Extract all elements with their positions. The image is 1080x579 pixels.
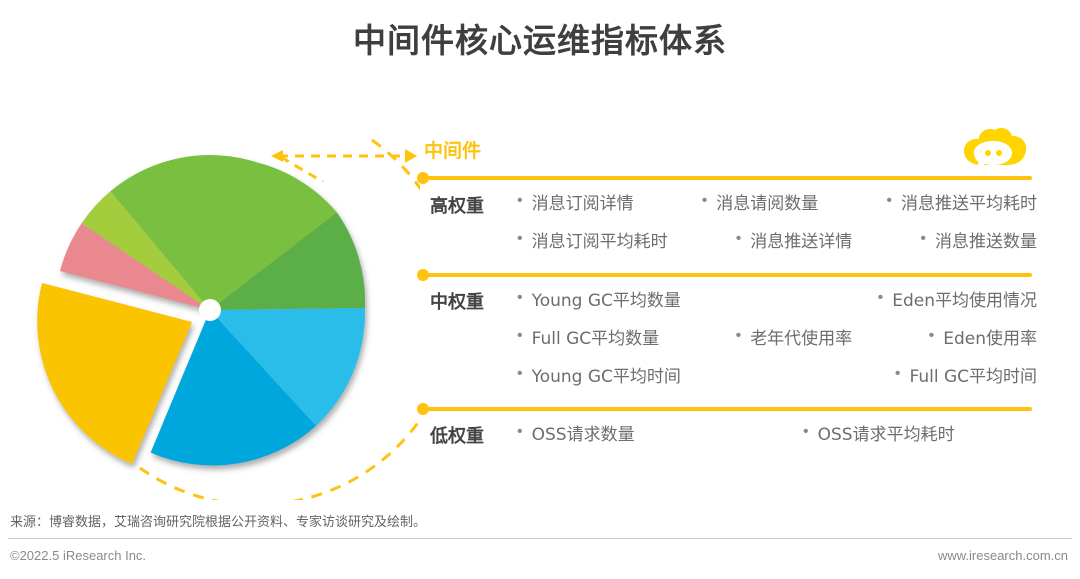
website-text: www.iresearch.com.cn [938,548,1068,563]
slide-root: 中间件核心运维指标体系 [0,0,1080,579]
metric-item: •消息订阅平均耗时 [517,227,668,252]
cloud-chat-icon [957,127,1032,179]
metric-text: 老年代使用率 [750,324,852,349]
metrics-group-low: •OSS请求数量 •OSS请求平均耗时 [517,413,1037,451]
metric-text: Eden使用率 [943,324,1037,349]
pie-hub [199,299,221,321]
divider-dot [417,269,429,281]
bullet-icon: • [886,193,892,209]
bullet-icon: • [736,231,742,247]
weight-label-low: 低权重 [430,422,484,448]
bullet-icon: • [895,366,901,382]
page-title: 中间件核心运维指标体系 [0,14,1080,62]
divider-dot [417,172,429,184]
metric-item: •消息推送平均耗时 [886,189,1037,214]
callout-arrow-icon [267,142,417,182]
bullet-icon: • [517,424,523,440]
weight-label-medium: 中权重 [430,288,484,314]
metric-line: •消息订阅详情 •消息请阅数量 •消息推送平均耗时 [517,182,1037,220]
metric-text: 消息请阅数量 [716,189,818,214]
metric-text: 消息推送平均耗时 [901,189,1037,214]
metric-text: Young GC平均时间 [532,362,681,387]
bullet-icon: • [878,290,884,306]
metric-item: •Full GC平均时间 [895,362,1037,387]
metric-text: OSS请求平均耗时 [818,420,955,445]
bullet-icon: • [702,193,708,209]
pie-chart: 中间件 [20,130,420,500]
metric-text: 消息推送详情 [750,227,852,252]
metric-text: Full GC平均数量 [532,324,660,349]
metric-line: •消息订阅平均耗时 •消息推送详情 •消息推送数量 [517,220,1037,258]
bullet-icon: • [929,328,935,344]
metric-text: Eden平均使用情况 [892,286,1037,311]
footer-divider [8,538,1072,539]
metric-item: •OSS请求数量 [517,420,787,445]
metric-line: •Young GC平均数量 •Eden平均使用情况 [517,279,1037,317]
metric-item: •消息订阅详情 [517,189,634,214]
metric-text: Full GC平均时间 [909,362,1037,387]
divider-top [422,176,1032,180]
metric-text: 消息订阅平均耗时 [532,227,668,252]
metric-item: •Full GC平均数量 [517,324,659,349]
source-note: 来源：博睿数据，艾瑞咨询研究院根据公开资料、专家访谈研究及绘制。 [10,511,426,530]
panel-title: 中间件 [424,136,481,163]
metric-text: Young GC平均数量 [532,286,681,311]
weight-label-high: 高权重 [430,192,484,218]
metric-item: •Young GC平均时间 [517,362,681,387]
metric-text: OSS请求数量 [532,420,635,445]
divider-dot [417,403,429,415]
metric-item: •Eden平均使用情况 [878,286,1037,311]
pie-chart-svg [20,130,420,500]
bullet-icon: • [517,328,523,344]
bullet-icon: • [517,231,523,247]
metric-text: 消息推送数量 [935,227,1037,252]
bullet-icon: • [517,193,523,209]
metric-text: 消息订阅详情 [532,189,634,214]
metric-item: •OSS请求平均耗时 [803,420,955,445]
bullet-icon: • [736,328,742,344]
metric-item: •老年代使用率 [736,324,853,349]
metrics-group-high: •消息订阅详情 •消息请阅数量 •消息推送平均耗时 •消息订阅平均耗时 •消息推… [517,182,1037,258]
metrics-panel: 中间件 高权重 •消息订阅详情 •消息请阅数量 •消息推送平均耗时 •消息订阅平… [412,136,1042,446]
bullet-icon: • [517,290,523,306]
metric-item: •消息推送详情 [736,227,853,252]
divider-middle [422,273,1032,277]
metric-item: •Young GC平均数量 [517,286,681,311]
metric-line: •OSS请求数量 •OSS请求平均耗时 [517,413,1037,451]
metrics-group-medium: •Young GC平均数量 •Eden平均使用情况 •Full GC平均数量 •… [517,279,1037,393]
bullet-icon: • [517,366,523,382]
metric-item: •消息推送数量 [920,227,1037,252]
divider-bottom [422,407,1032,411]
metric-item: •消息请阅数量 [702,189,819,214]
metric-line: •Young GC平均时间 •Full GC平均时间 [517,355,1037,393]
bullet-icon: • [920,231,926,247]
copyright-text: ©2022.5 iResearch Inc. [10,548,146,563]
metric-line: •Full GC平均数量 •老年代使用率 •Eden使用率 [517,317,1037,355]
bullet-icon: • [803,424,809,440]
metric-item: •Eden使用率 [929,324,1037,349]
